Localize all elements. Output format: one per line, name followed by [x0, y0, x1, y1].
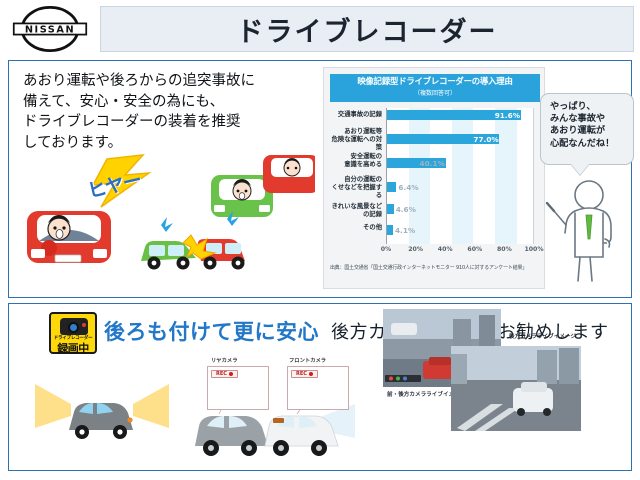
chart-value-label: 4.6%: [396, 205, 416, 214]
chart-x-tick: 100%: [524, 246, 543, 253]
chart-value-label: 77.0%: [473, 135, 498, 144]
camera-lens-icon: [68, 322, 79, 333]
lead-paragraph: あおり運転や後ろからの追突事故に 備えて、安心・安全の為にも、 ドライブレコーダ…: [23, 71, 313, 153]
chart-x-tick: 60%: [467, 246, 482, 253]
chart-category-label: あおり運転等 危険な運転への対策: [326, 128, 382, 152]
sticker-line-2: 録画中: [51, 340, 95, 356]
rec-label: REC: [296, 371, 307, 377]
chart-category-labels: 交通事故の記録 あおり運転等 危険な運転への対策 安全運転の 意識を高める 自分…: [326, 108, 384, 244]
photo-rear-live: [451, 346, 581, 431]
camera-diagram: REC リヤカメラ REC フロントカメラ: [189, 352, 357, 464]
lead-line-1: あおり運転や後ろからの追突事故に: [23, 71, 313, 92]
chart-card: 映像記録型ドライブレコーダーの導入理由 （複数回答可） 交通事故の記録 あおり運…: [323, 67, 545, 289]
lead-line-3: ドライブレコーダーの装着を推奨: [23, 112, 313, 133]
rear-camera-label: リヤカメラ: [211, 356, 238, 364]
chart-plot-area: 91.6% 77.0% 40.1% 6.4% 4.6% 4.1%: [386, 108, 534, 244]
rec-dot-icon: [82, 323, 86, 327]
chart-subtitle: （複数回答可）: [330, 88, 540, 97]
rec-dot-icon: [309, 372, 313, 376]
chart-value-label: 4.1%: [395, 226, 415, 235]
chart-band: [452, 108, 474, 244]
chart-bar: [387, 204, 394, 214]
chart-value-label: 6.4%: [398, 183, 418, 192]
chart-category-label: その他: [363, 224, 382, 232]
chart-x-tick: 80%: [497, 246, 512, 253]
rear-camera-view-box: REC: [207, 366, 269, 410]
chart-x-tick: 40%: [438, 246, 453, 253]
chart-category-label: 自分の運転の くせなどを把握する: [326, 176, 382, 200]
svg-text:NISSAN: NISSAN: [25, 24, 75, 35]
chart-band: [495, 108, 517, 244]
rec-badge-rear: REC: [211, 370, 238, 378]
chart-category-label: きれいな風景などの記録: [326, 203, 382, 219]
speech-bubble: やっぱり、 みんな事故や あおり運転が 心配なんだね！: [540, 93, 634, 165]
car-coverage-illustration: [23, 358, 183, 458]
drive-recorder-sticker: ドライブレコーダー 録画中: [49, 312, 97, 354]
photo-rear-live-label: 後方カメラライブイメージ: [509, 332, 576, 340]
chart-source-note: 出典：国土交通省「国土交通行政インターネットモニター 910人に対するアンケート…: [330, 264, 542, 271]
chart-x-axis: 0% 20% 40% 60% 80% 100%: [386, 246, 534, 258]
headline-blue: 後ろも付けて更に安心: [104, 316, 319, 346]
page-title: ドライブレコーダー: [237, 10, 498, 49]
rec-badge-front: REC: [291, 370, 318, 378]
chart-x-tick: 0%: [381, 246, 392, 253]
chart-band: [409, 108, 431, 244]
lead-line-4: しております。: [23, 133, 313, 154]
rec-dot-icon: [229, 372, 233, 376]
chart-bar: [387, 182, 396, 192]
bubble-line-4: 心配なんだね！: [550, 138, 627, 150]
lead-line-2: 備えて、安心・安全の為にも、: [23, 92, 313, 113]
bubble-line-1: やっぱり、: [550, 101, 627, 113]
chart-value-label: 91.6%: [495, 111, 520, 120]
presenter-figure: [545, 173, 631, 285]
accident-illustration: ヒヤー: [15, 153, 315, 293]
chart-bar: [387, 225, 393, 235]
bubble-line-2: みんな事故や: [550, 113, 627, 125]
page-header: NISSAN ドライブレコーダー: [0, 0, 640, 58]
top-panel: あおり運転や後ろからの追突事故に 備えて、安心・安全の為にも、 ドライブレコーダ…: [8, 60, 632, 298]
bubble-line-3: あおり運転が: [550, 125, 627, 137]
title-bar: ドライブレコーダー: [100, 6, 634, 52]
front-camera-label: フロントカメラ: [289, 356, 326, 364]
chart-title-bar: 映像記録型ドライブレコーダーの導入理由 （複数回答可）: [330, 74, 540, 102]
chart-category-label: 安全運転の 意識を高める: [344, 153, 382, 169]
nissan-logo: NISSAN: [8, 6, 92, 52]
rec-label: REC: [216, 371, 227, 377]
bottom-panel: ドライブレコーダー 録画中 後ろも付けて更に安心 後方カメラの装着をお勧めします: [8, 303, 632, 471]
front-camera-view-box: REC: [287, 366, 349, 410]
chart-title: 映像記録型ドライブレコーダーの導入理由: [330, 77, 540, 86]
slide-root: NISSAN ドライブレコーダー あおり運転や後ろからの追突事故に 備えて、安心…: [0, 0, 640, 480]
chart-value-label: 40.1%: [420, 159, 445, 168]
chart-x-tick: 20%: [408, 246, 423, 253]
chart-category-label: 交通事故の記録: [338, 111, 382, 119]
